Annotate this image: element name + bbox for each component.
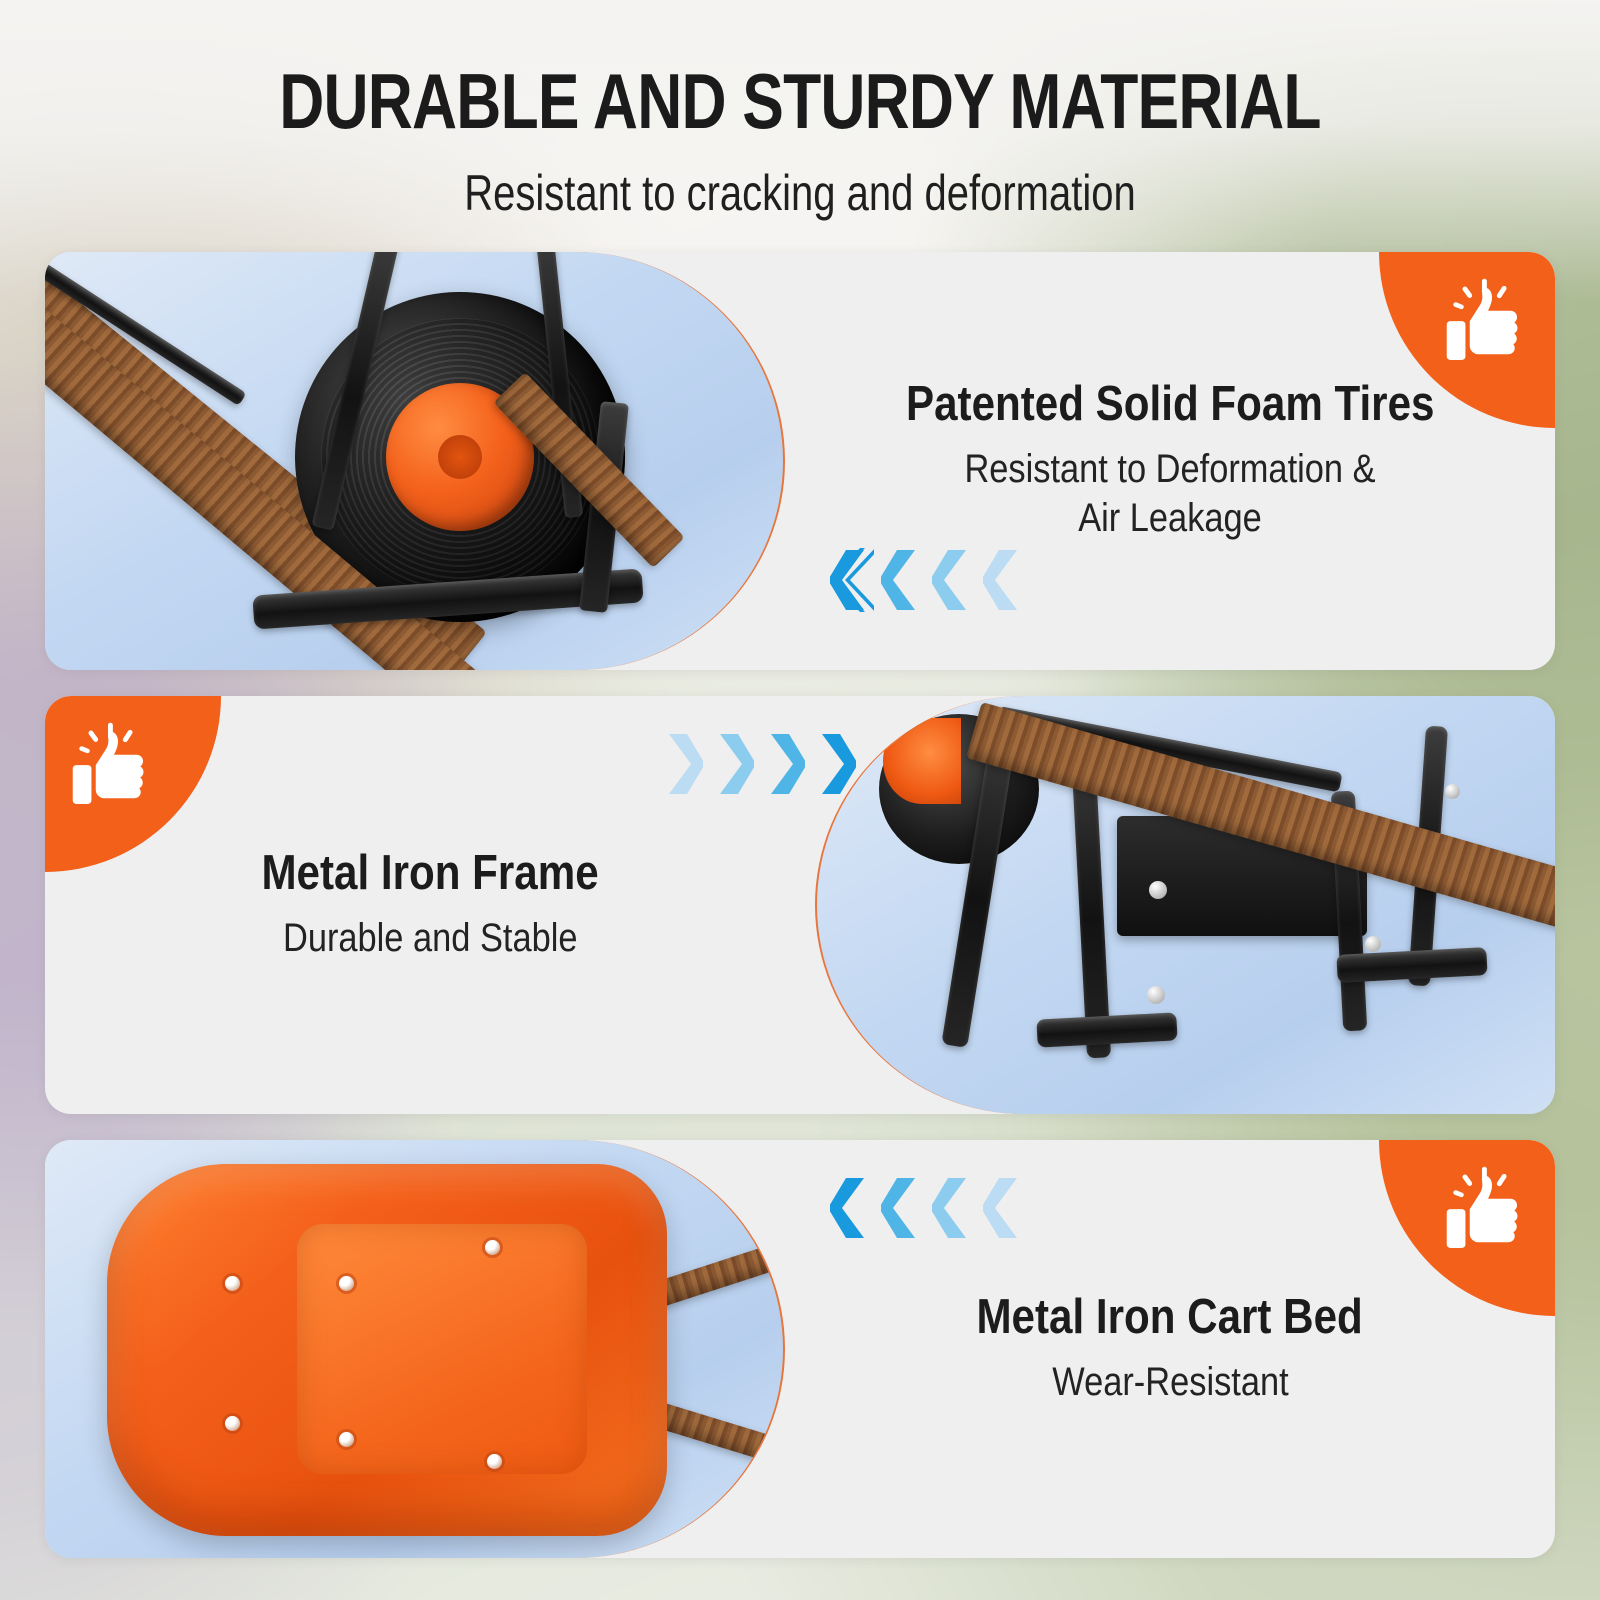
chevron-left-icon [932,1176,976,1240]
feature-title: Metal Iron Frame [261,848,598,900]
thumbs-up-icon [67,722,159,814]
page-subtitle: Resistant to cracking and deformation [160,168,1440,218]
feature-title: Metal Iron Cart Bed [977,1292,1363,1344]
chevron-left-icon [983,1176,1027,1240]
bolt-left [1149,881,1167,899]
product-photo-cart-bed [45,1140,785,1558]
chevron-left-icon [932,548,976,612]
wheel-hub-partial [883,718,961,804]
rivet [339,1276,354,1291]
feature-panel-frame: Metal Iron Frame Durable and Stable [45,696,1555,1114]
quality-badge-top-right [1379,252,1555,428]
feature-title: Patented Solid Foam Tires [906,379,1434,431]
product-photo-tire [45,252,785,670]
feature-panel-cart-bed: Metal Iron Cart Bed Wear-Resistant [45,1140,1555,1558]
thumbs-up-icon [1441,278,1533,370]
feature-panel-list: Patented Solid Foam Tires Resistant to D… [45,252,1555,1584]
chevron-right-icon [710,732,754,796]
chevron-right-icon [812,732,856,796]
cart-bed-tray [107,1164,667,1536]
rivet [487,1454,502,1469]
feature-panel-tires: Patented Solid Foam Tires Resistant to D… [45,252,1555,670]
bolt-right [1365,936,1381,952]
chevron-left-icon [881,548,925,612]
quality-badge-top-left [45,696,221,872]
rivet [339,1432,354,1447]
quality-badge-top-right [1379,1140,1555,1316]
thumbs-up-icon [1441,1166,1533,1258]
feature-subtitle: Wear-Resistant [1052,1358,1288,1407]
chevron-left-icon [881,1176,925,1240]
page-title: DURABLE AND STURDY MATERIAL [160,62,1440,140]
chevron-left-icon [830,1176,874,1240]
rivet [485,1240,500,1255]
bolt-upper-right [1445,784,1460,799]
product-photo-frame [815,696,1555,1114]
chevron-left-icon [830,548,874,612]
feature-subtitle: Resistant to Deformation & Air Leakage [964,445,1375,543]
chevron-right-icon [761,732,805,796]
bolt-lower-left [1147,986,1165,1004]
chevron-right-icon [659,732,703,796]
rivet [225,1416,240,1431]
chevron-row-left [830,548,1027,612]
chevron-left-icon [983,548,1027,612]
rivet [225,1276,240,1291]
chevron-row-right [659,732,856,796]
chevron-row-left [830,1176,1027,1240]
header: DURABLE AND STURDY MATERIAL Resistant to… [0,0,1600,218]
frame-foot-left [1036,1012,1177,1047]
feature-subtitle: Durable and Stable [283,914,578,963]
